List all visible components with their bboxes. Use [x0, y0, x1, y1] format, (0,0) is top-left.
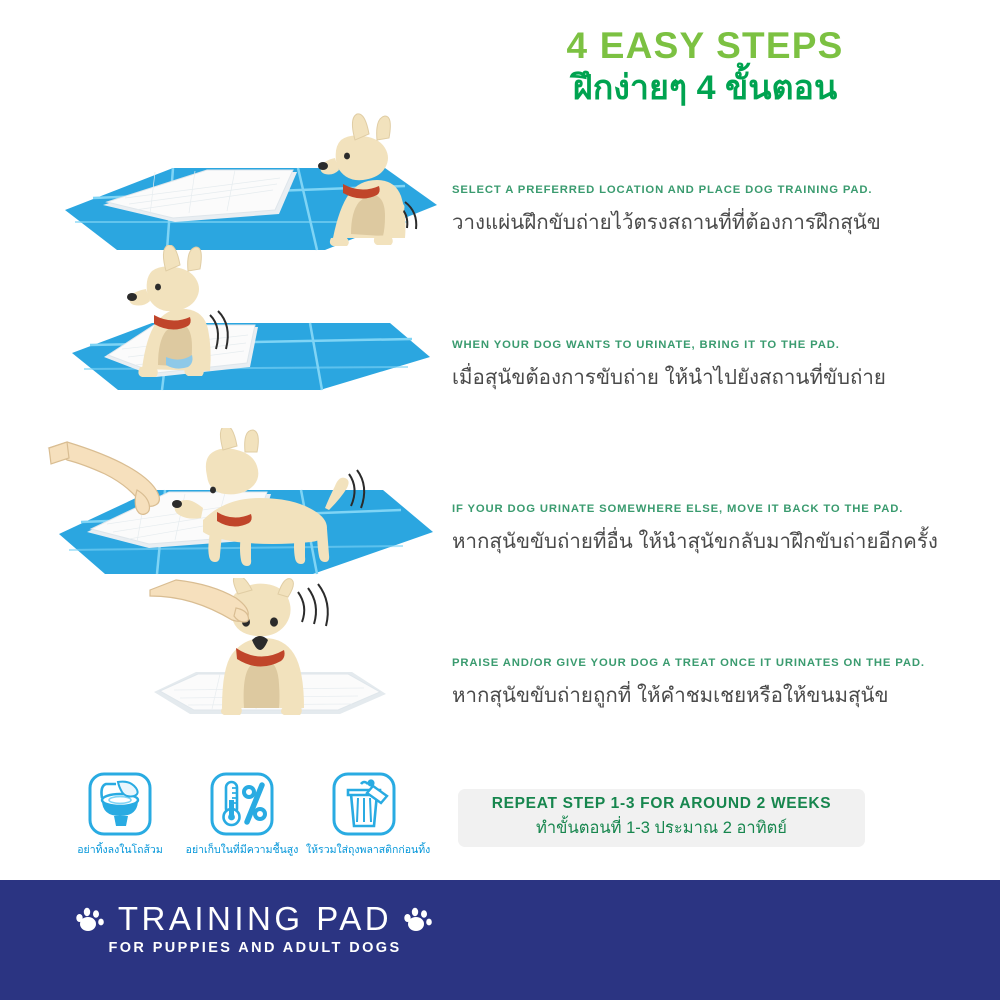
warning-label-trash: ให้รวมใส่ถุงพลาสติกก่อนทิ้ง [306, 841, 422, 858]
step-4-english: PRAISE AND/OR GIVE YOUR DOG A TREAT ONCE… [452, 657, 992, 669]
warning-icons-group: อย่าทิ้งลงในโถส้วม อย่าเก็บในที่มีความชื… [62, 772, 422, 858]
footer-subtitle: FOR PUPPIES AND ADULT DOGS [60, 940, 450, 956]
step-3-english: IF YOUR DOG URINATE SOMEWHERE ELSE, MOVE… [452, 503, 992, 515]
repeat-thai: ทำขั้นตอนที่ 1-3 ประมาณ 2 อาทิตย์ [536, 815, 787, 841]
repeat-instruction-box: REPEAT STEP 1-3 FOR AROUND 2 WEEKS ทำขั้… [458, 789, 865, 847]
footer-title: TRAINING PAD [118, 902, 392, 937]
happy-motion-lines-icon [298, 584, 328, 626]
page-title-thai: ฝึกง่ายๆ 4 ขั้นตอน [440, 67, 970, 110]
toilet-icon [88, 772, 152, 836]
repeat-english: REPEAT STEP 1-3 FOR AROUND 2 WEEKS [492, 795, 832, 813]
step-2-thai: เมื่อสุนัขต้องการขับถ่าย ให้นำไปยังสถานท… [452, 361, 992, 394]
thermometer-humidity-icon [210, 772, 274, 836]
paw-print-icon [76, 906, 106, 932]
step-4-thai: หากสุนัขขับถ่ายถูกที่ ให้คำชมเชยหรือให้ข… [452, 679, 992, 712]
step-1-illustration [55, 110, 445, 260]
step-4-illustration [140, 578, 400, 718]
step-1-english: SELECT A PREFERRED LOCATION AND PLACE DO… [452, 184, 992, 196]
paw-print-icon [404, 906, 434, 932]
step-3-illustration [45, 428, 445, 583]
page-title-english: 4 EASY STEPS [440, 26, 970, 65]
warning-item-toilet: อย่าทิ้งลงในโถส้วม [62, 772, 178, 858]
step-2-english: WHEN YOUR DOG WANTS TO URINATE, BRING IT… [452, 339, 992, 351]
warning-item-humidity: อย่าเก็บในที่มีความชื้นสูง [184, 772, 300, 858]
step-2-text: WHEN YOUR DOG WANTS TO URINATE, BRING IT… [452, 339, 992, 394]
step-1-text: SELECT A PREFERRED LOCATION AND PLACE DO… [452, 184, 992, 239]
warning-label-humidity: อย่าเก็บในที่มีความชื้นสูง [184, 841, 300, 858]
page-header: 4 EASY STEPS ฝึกง่ายๆ 4 ขั้นตอน [440, 26, 970, 110]
step-2-illustration [60, 245, 450, 395]
petting-hand-icon [150, 580, 249, 622]
pointing-hand-icon [49, 442, 159, 514]
warning-item-trash: ให้รวมใส่ถุงพลาสติกก่อนทิ้ง [306, 772, 422, 858]
step-3-thai: หากสุนัขขับถ่ายที่อื่น ให้นำสุนัขกลับมาฝ… [452, 525, 992, 558]
step-4-text: PRAISE AND/OR GIVE YOUR DOG A TREAT ONCE… [452, 657, 992, 712]
warning-label-toilet: อย่าทิ้งลงในโถส้วม [62, 841, 178, 858]
step-3-text: IF YOUR DOG URINATE SOMEWHERE ELSE, MOVE… [452, 503, 992, 558]
trash-bin-icon [332, 772, 396, 836]
infographic-page: 4 EASY STEPS ฝึกง่ายๆ 4 ขั้นตอน [0, 0, 1000, 1000]
step-1-thai: วางแผ่นฝึกขับถ่ายไว้ตรงสถานที่ที่ต้องการ… [452, 206, 992, 239]
footer-banner: TRAINING PAD FOR PUPPIES AND ADULT DOGS … [0, 880, 1000, 1000]
footer-product-block: TRAINING PAD FOR PUPPIES AND ADULT DOGS [60, 902, 450, 956]
